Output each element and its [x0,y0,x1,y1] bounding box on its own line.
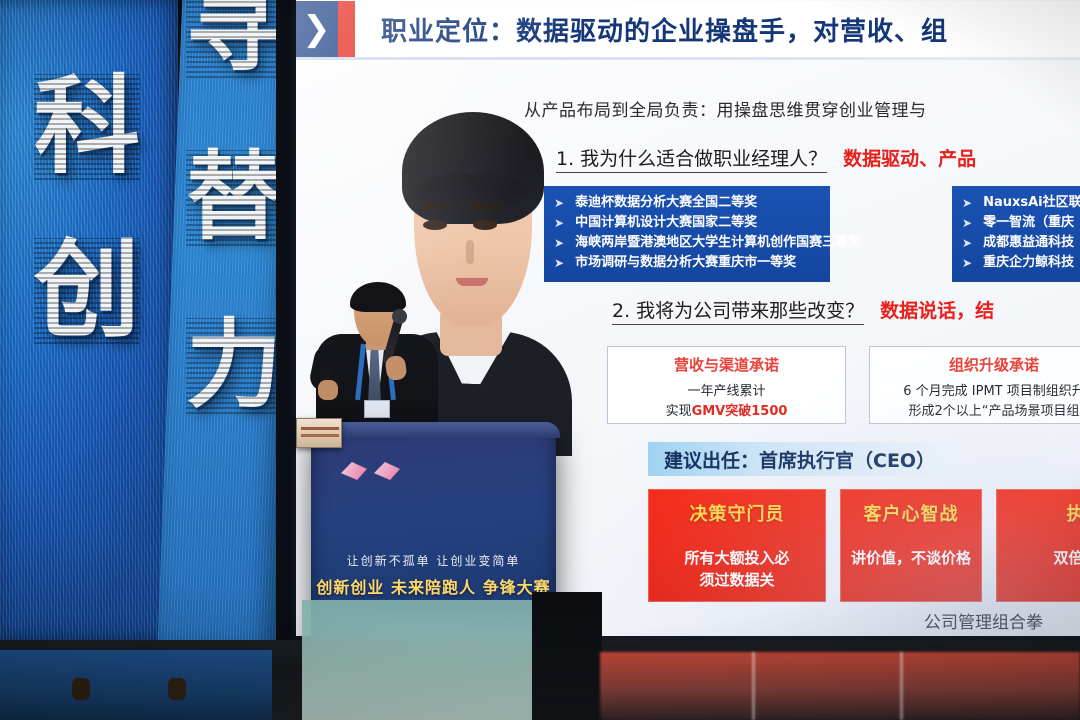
red-card-title: 决策守门员 [648,500,826,526]
floor-blue-reflection [0,650,272,720]
promise-box-title: 营收与渠道承诺 [618,354,835,375]
slide-title: 职业定位：数据驱动的企业操盘手，对营收、组 [381,11,948,48]
promise-line2-prefix: 实现 [666,404,692,419]
list-item-label: 重庆企力鲸科技 [983,253,1074,273]
portrait-eye-left [423,220,447,230]
title-accent-navy: ❯ [296,1,338,57]
arrow-right-icon: ➤ [962,194,972,213]
floor-red-reflection [600,652,1080,720]
slide-footnote: 公司管理组合拳 [924,608,1043,633]
led-char-li: 力 [186,318,282,414]
stage-photo: 科 创 寻 替 力 ❯ 职业定位：数据驱动的企业操盘手，对营收、组 [0,0,1080,720]
led-char-chuang: 创 [34,238,140,344]
red-card-customer: 客户心智战 讲价值，不谈价格 [840,489,982,602]
list-item: ➤ 海峡两岸暨港澳地区大学生计算机创作国赛三等奖 [554,233,820,253]
podium-event-name: 创新创业 未来陪跑人 争锋大赛 [311,574,556,598]
promise-box-line1: 一年产线累计 [618,382,835,402]
red-card-title: 执 [996,500,1080,526]
red-card-title: 客户心智战 [840,500,982,526]
question-1-line: 1. 我为什么适合做职业经理人？ 数据驱动、产品 [556,144,976,173]
arrow-right-icon: ➤ [554,254,564,273]
podium-logo [341,462,400,480]
list-item: ➤ 零一智流（重庆 [962,213,1080,233]
list-item-label: 中国计算机设计大赛国家二等奖 [575,213,757,233]
promise-line2-accent: GMV突破1500 [692,404,788,419]
slide-title-bar: ❯ 职业定位：数据驱动的企业操盘手，对营收、组 [296,1,1080,57]
promise-box-title: 组织升级承诺 [880,354,1080,375]
awards-bullet-box: ➤ 泰迪杯数据分析大赛全国二等奖 ➤ 中国计算机设计大赛国家二等奖 ➤ 海峡两岸… [544,186,830,282]
speaker-badge [364,400,390,418]
led-char-ke: 科 [34,74,140,180]
wing-icon [374,462,400,480]
promise-box-line1: 6 个月完成 IPMT 项目制组织升 [880,382,1080,402]
arrow-right-icon: ➤ [554,234,564,253]
podium-name-card [296,418,342,448]
stage-column-teal [302,600,532,720]
arrow-right-icon: ➤ [554,194,564,213]
list-item-label: 泰迪杯数据分析大赛全国二等奖 [575,193,757,213]
arrow-right-icon: ➤ [962,254,972,273]
question-2-heading: 2. 我将为公司带来那些改变？ [612,296,864,325]
list-item: ➤ NauxsAi社区联 [962,193,1080,213]
list-item: ➤ 泰迪杯数据分析大赛全国二等奖 [554,193,820,213]
question-2-line: 2. 我将为公司带来那些改变？ 数据说话，结 [612,296,994,325]
list-item: ➤ 中国计算机设计大赛国家二等奖 [554,213,820,233]
portrait-nose [466,240,474,264]
portrait-mouth [456,278,488,286]
question-1-tag: 数据驱动、产品 [843,144,976,171]
speaker-hair [350,282,406,312]
promise-box-revenue: 营收与渠道承诺 一年产线累计 实现GMV突破1500 [607,346,846,424]
promise-box-line2: 实现GMV突破1500 [618,402,835,422]
list-item-label: 成都惠益通科技 [983,233,1074,253]
red-card-decision: 决策守门员 所有大额投入必 须过数据关 [648,489,826,602]
wall-caster-wheel [72,678,90,700]
list-item: ➤ 市场调研与数据分析大赛重庆市一等奖 [554,253,820,273]
title-accent-red [338,1,355,57]
question-2-tag: 数据说话，结 [880,296,994,323]
list-item-label: NauxsAi社区联 [983,193,1080,213]
slide-subtitle: 从产品布局到全局负责：用操盘思维贯穿创业管理与 [524,96,927,121]
red-card-body: 所有大额投入必 须过数据关 [648,548,826,592]
experience-bullet-box: ➤ NauxsAi社区联 ➤ 零一智流（重庆 ➤ 成都惠益通科技 ➤ 重庆企力鲸… [952,186,1080,282]
red-card-body: 双倍奖 [996,548,1080,570]
list-item-label: 市场调研与数据分析大赛重庆市一等奖 [575,253,796,273]
wing-icon [341,462,367,480]
floor-seam [900,652,903,720]
podium-tagline: 让创新不孤单 让创业变简单 [311,552,556,569]
question-1-heading: 1. 我为什么适合做职业经理人？ [556,144,827,173]
promise-box-organization: 组织升级承诺 6 个月完成 IPMT 项目制组织升 形成2个以上“产品场景项目组 [869,346,1080,424]
floor-seam [752,652,755,720]
led-char-xun: 寻 [186,0,282,78]
red-card-body: 讲价值，不谈价格 [840,548,982,570]
list-item: ➤ 重庆企力鲸科技 [962,253,1080,273]
title-underline [296,57,1080,60]
list-item-label: 零一智流（重庆 [983,213,1074,233]
speaker-hand-left [318,380,338,400]
led-char-ti: 替 [186,150,282,246]
list-item-label: 海峡两岸暨港澳地区大学生计算机创作国赛三等奖 [575,233,861,253]
stage-column-dark [532,592,602,720]
podium-top-surface [307,422,560,438]
red-card-execution: 执 双倍奖 [996,489,1080,602]
wall-caster-wheel [168,678,186,700]
ceo-recommendation-bar: 建议出任：首席执行官（CEO） [648,442,957,476]
portrait-eye-right [473,220,497,230]
list-item: ➤ 成都惠益通科技 [962,233,1080,253]
chevron-right-icon: ❯ [302,12,331,46]
slide-title-wrap: 职业定位：数据驱动的企业操盘手，对营收、组 [355,1,1080,57]
arrow-right-icon: ➤ [962,234,972,253]
arrow-right-icon: ➤ [554,214,564,233]
promise-box-line2: 形成2个以上“产品场景项目组 [880,402,1080,422]
arrow-right-icon: ➤ [962,214,972,233]
